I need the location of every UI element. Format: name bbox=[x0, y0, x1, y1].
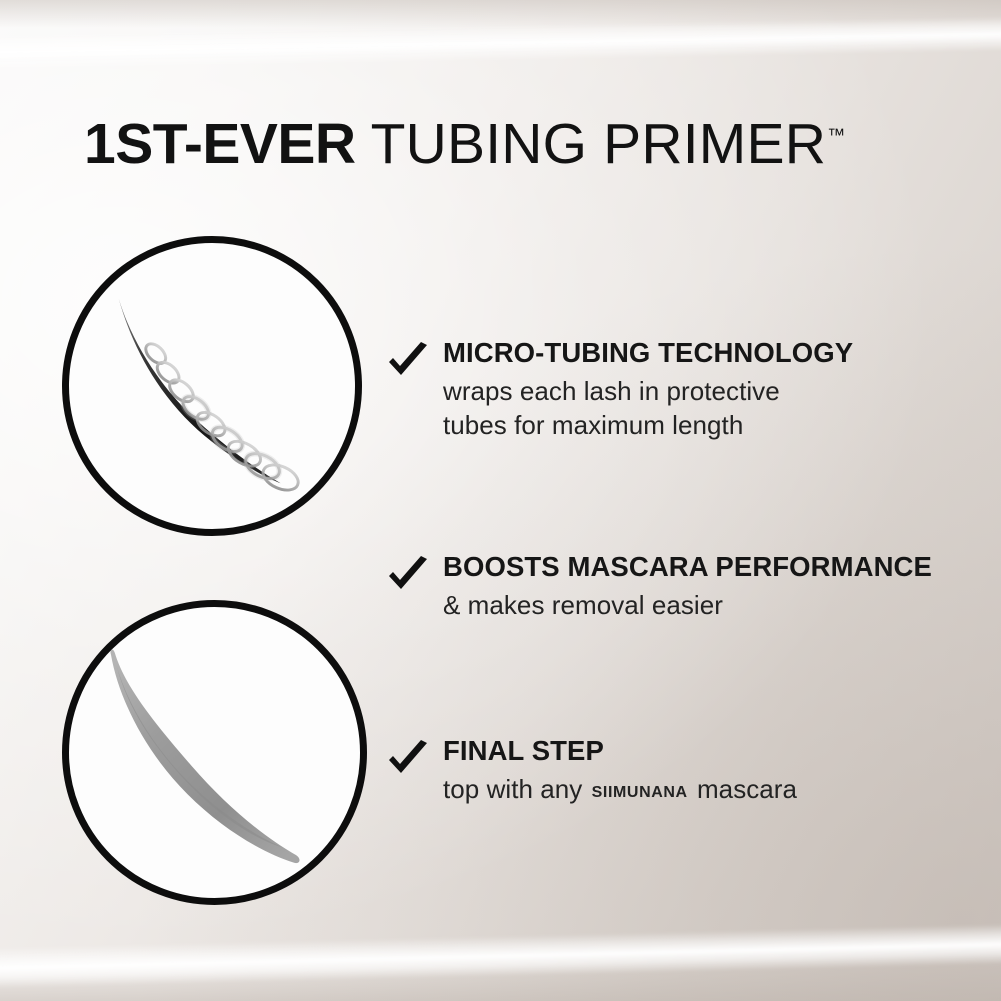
lash-coated-shape bbox=[110, 649, 299, 863]
checkmark-icon bbox=[386, 740, 430, 784]
feature-subtext: & makes removal easier bbox=[443, 588, 992, 622]
feature-subtext-line: tubes for maximum length bbox=[443, 408, 992, 442]
feature-subtext-prefix: top with any bbox=[443, 774, 590, 804]
headline-light-part: TUBING PRIMER bbox=[356, 112, 826, 176]
feature-title: MICRO-TUBING TECHNOLOGY bbox=[443, 338, 992, 369]
bottom-highlight-band bbox=[0, 921, 1001, 990]
headline-bold-part: 1ST-EVER bbox=[84, 112, 356, 176]
feature-item-final-step: FINAL STEP top with any SIIMUNANA mascar… bbox=[386, 736, 992, 806]
feature-item-micro-tubing: MICRO-TUBING TECHNOLOGY wraps each lash … bbox=[386, 338, 992, 442]
feature-title: BOOSTS MASCARA PERFORMANCE bbox=[443, 552, 992, 583]
feature-subtext: top with any SIIMUNANA mascara bbox=[443, 772, 992, 806]
infographic-canvas: 1ST-EVER TUBING PRIMER™ bbox=[0, 0, 1001, 1001]
page-title: 1ST-EVER TUBING PRIMER™ bbox=[84, 116, 844, 173]
illustration-circle-micro-tubing bbox=[62, 236, 362, 536]
lash-with-micro-tubes-icon bbox=[69, 243, 355, 529]
trademark-symbol: ™ bbox=[827, 125, 845, 145]
feature-subtext-line: & makes removal easier bbox=[443, 588, 992, 622]
bottom-edge-shade bbox=[0, 967, 1001, 1001]
lash-coated-core-shadow bbox=[117, 666, 283, 847]
feature-text-block: BOOSTS MASCARA PERFORMANCE & makes remov… bbox=[443, 552, 992, 622]
feature-item-boosts-mascara: BOOSTS MASCARA PERFORMANCE & makes remov… bbox=[386, 552, 992, 622]
micro-tube-haze bbox=[179, 392, 284, 484]
lash-coated-primer-icon bbox=[69, 607, 360, 898]
brand-wordmark: SIIMUNANA bbox=[590, 784, 690, 801]
top-highlight-band bbox=[0, 15, 1001, 72]
feature-text-block: MICRO-TUBING TECHNOLOGY wraps each lash … bbox=[443, 338, 992, 442]
checkmark-icon bbox=[386, 342, 430, 386]
feature-subtext-suffix: mascara bbox=[690, 774, 797, 804]
feature-title: FINAL STEP bbox=[443, 736, 992, 767]
feature-subtext: wraps each lash in protective tubes for … bbox=[443, 374, 992, 443]
illustration-circle-primed-lash bbox=[62, 600, 367, 905]
feature-subtext-line: wraps each lash in protective bbox=[443, 374, 992, 408]
top-edge-shade bbox=[0, 0, 1001, 28]
feature-text-block: FINAL STEP top with any SIIMUNANA mascar… bbox=[443, 736, 992, 806]
checkmark-icon bbox=[386, 556, 430, 600]
